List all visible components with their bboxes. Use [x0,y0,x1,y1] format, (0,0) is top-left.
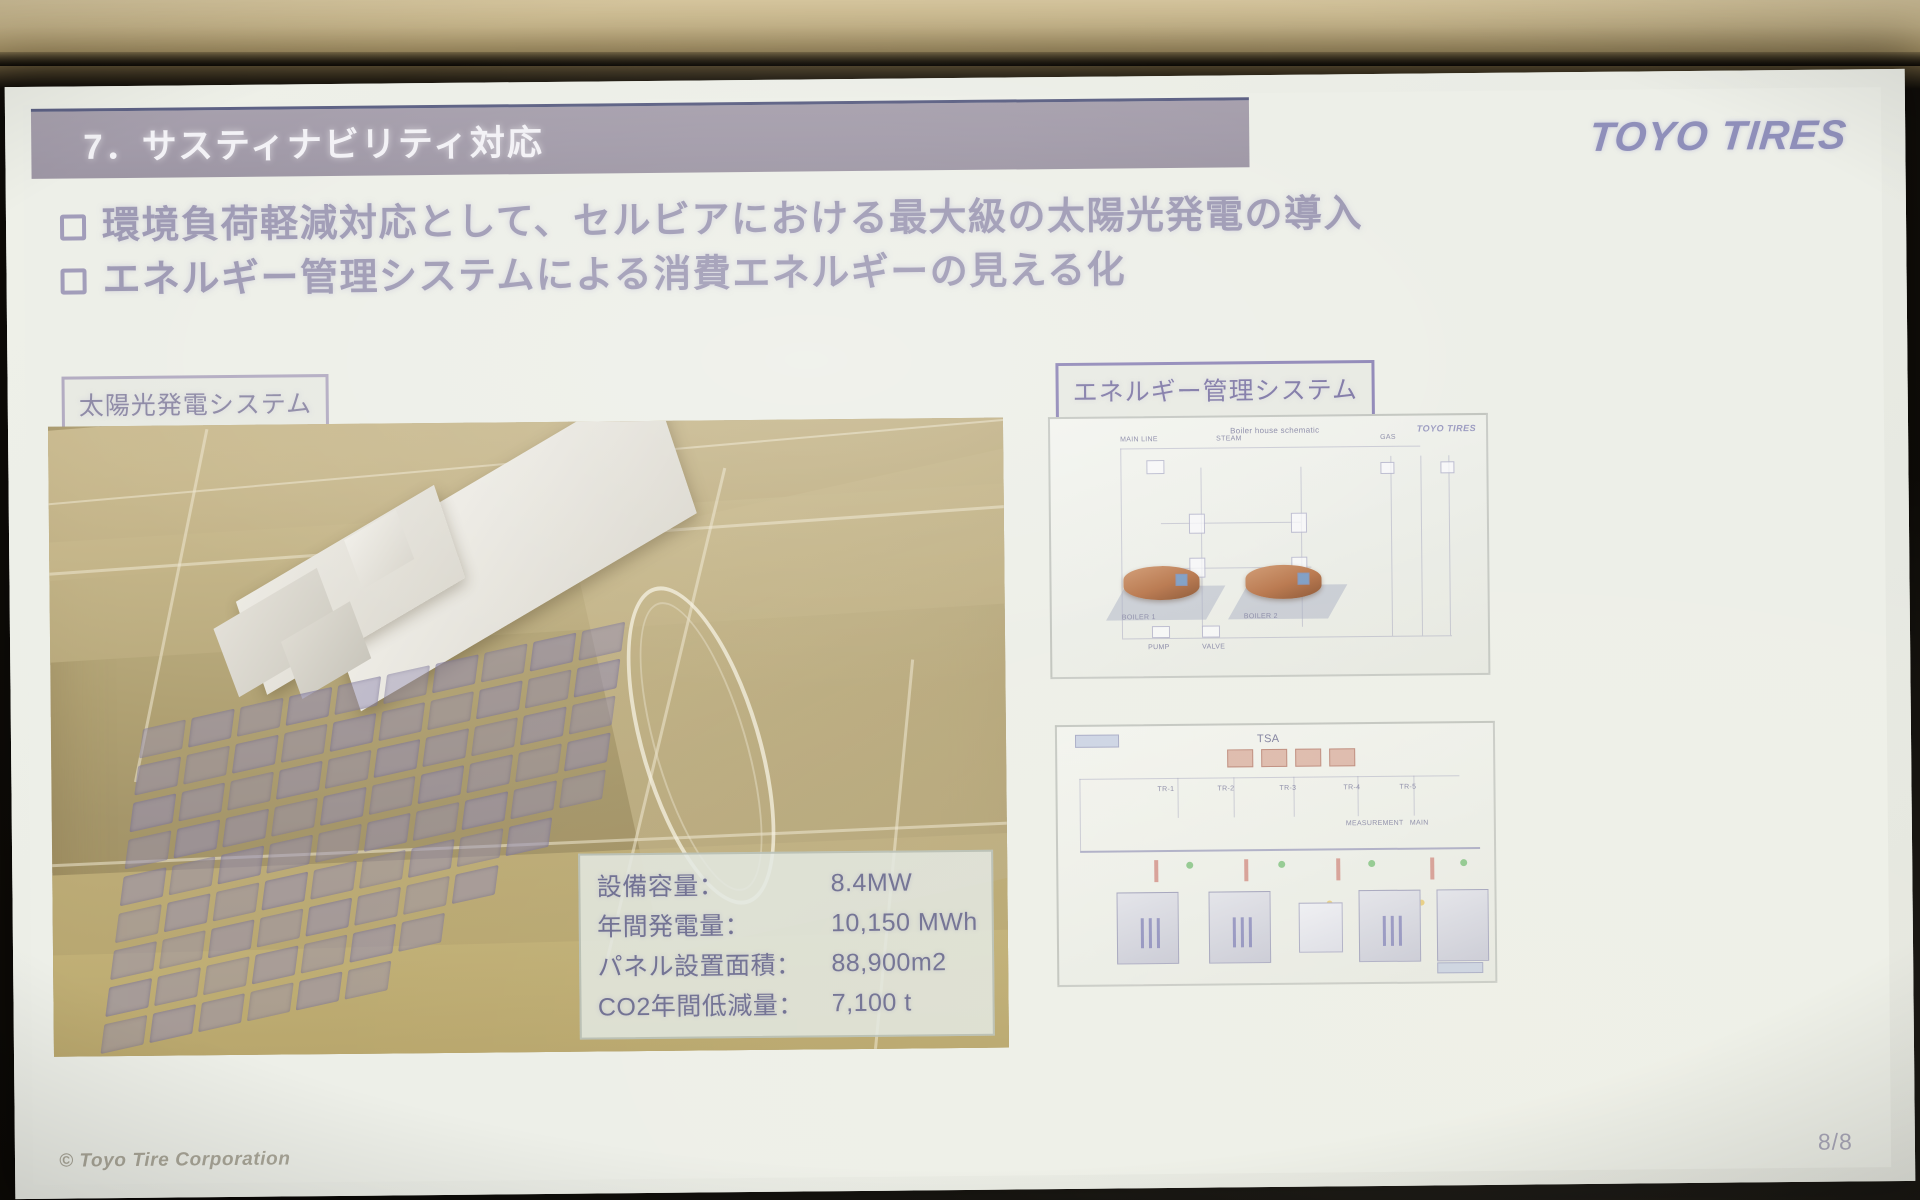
diagram-title: TSA [1257,733,1279,745]
page-number: 8/8 [1818,1128,1853,1155]
solar-panel-cell [422,728,469,767]
solar-panel-cell [257,908,304,947]
solar-panel-cell [369,776,416,815]
solar-panel-cell [159,930,206,969]
solar-panel-cell [232,735,279,774]
solar-panel-cell [349,924,396,963]
solar-panel-cell [515,743,562,782]
solar-panel-cell [476,680,523,719]
stat-label: パネル設置面積： [597,943,831,985]
solar-panel-cell [574,659,621,698]
solar-panel-cell [281,724,328,763]
solar-panel-cell [129,793,176,832]
bullet-label: エネルギー管理システムによる消費エネルギーの見える化 [102,244,1126,308]
ems-schematic-diagram-top: TOYO TIRES Boiler house schematic [1048,413,1490,679]
stat-value: 8.4MW [830,862,977,903]
solar-panel-cell [188,709,235,748]
solar-panel-cell [466,754,513,793]
ceiling-wood-strip [0,0,1920,66]
bullet-list: 環境負荷軽減対応として、セルビアにおける最大級の太陽光発電の導入 エネルギー管理… [60,186,1561,308]
solar-panel-cell [345,961,392,1000]
solar-panel-cell [222,809,269,848]
solar-panel-cell [164,893,211,932]
solar-panel-cell [237,698,284,737]
solar-panel-cell [276,761,323,800]
solar-panel-cell [154,967,201,1006]
solar-panel-cell [417,765,464,804]
solar-panel-cell [115,904,162,943]
solar-panel-cell [481,643,528,682]
solar-panel-cell [334,676,381,715]
solar-panel-cell [564,732,611,771]
ems-schematic-diagram-bottom: TSA TR-1 TR-2 TR-3 TR-4 TR-5 MEA [1055,721,1497,987]
stat-label: 年間発電量： [597,903,831,945]
solar-panel-cell [120,867,167,906]
solar-panel-cell [169,856,216,895]
table-row: CO2年間低減量： 7,100 t [598,982,979,1026]
solar-panel-cell [403,876,450,915]
solar-panel-cell [457,828,504,867]
solar-panel-cell [569,696,616,735]
solar-stats-panel: 設備容量： 8.4MW 年間発電量： 10,150 MWh パネル設置面積： 8… [578,850,994,1040]
solar-panel-cell [110,941,157,980]
solar-panel-cell [427,691,474,730]
solar-panel-cell [125,830,172,869]
solar-panel-cell [320,787,367,826]
solar-panel-cell [413,802,460,841]
checkbox-square-icon [60,214,86,240]
solar-panel-cell [461,791,508,830]
solar-panel-cell [398,913,445,952]
solar-panel-cell [325,750,372,789]
projection-screen: 7．サスティナビリティ対応 TOYO TIRES 環境負荷軽減対応として、セルビ… [5,69,1916,1199]
aerial-site-photo: 設備容量： 8.4MW 年間発電量： 10,150 MWh パネル設置面積： 8… [48,418,1009,1057]
solar-panel-cell [525,669,572,708]
table-row: パネル設置面積： 88,900m2 [597,942,978,986]
solar-panel-cell [183,746,230,785]
stat-value: 7,100 t [832,982,979,1023]
caption-energy-management-system: エネルギー管理システム [1055,360,1375,421]
solar-panel-cell [310,861,357,900]
table-row: 年間発電量： 10,150 MWh [597,902,978,946]
solar-panel-cell [559,769,606,808]
page-title: 7．サスティナビリティ対応 [83,114,544,169]
solar-panel-cell [178,782,225,821]
solar-panel-cell [354,887,401,926]
solar-panel-cell [149,1004,196,1043]
solar-panel-cell [208,919,255,958]
solar-stats-table: 設備容量： 8.4MW 年間発電量： 10,150 MWh パネル設置面積： 8… [597,862,979,1026]
copyright-notice: © Toyo Tire Corporation [59,1148,291,1172]
solar-panel-cell [452,865,499,904]
solar-panel-cell [247,982,294,1021]
stat-value: 88,900m2 [831,942,978,983]
solar-panel-cell [330,713,377,752]
solar-panel-cell [271,798,318,837]
stat-label: CO2年間低減量： [598,983,832,1025]
solar-panel-cell [505,817,552,856]
solar-panel-cell [100,1015,147,1054]
diagram-logo: TOYO TIRES [1417,423,1476,434]
solar-panel-cell [105,978,152,1017]
solar-panel-cell [261,872,308,911]
solar-panel-cell [378,702,425,741]
solar-panel-cell [510,780,557,819]
table-row: 設備容量： 8.4MW [597,862,978,906]
solar-panel-cell [217,845,264,884]
solar-panel-cell [364,813,411,852]
slide-content: 7．サスティナビリティ対応 TOYO TIRES 環境負荷軽減対応として、セルビ… [23,87,1891,1185]
solar-panel-cell [203,956,250,995]
solar-panel-cell [315,824,362,863]
solar-panel-cell [173,819,220,858]
solar-panel-cell [213,882,260,921]
solar-panel-cell [301,935,348,974]
stat-label: 設備容量： [597,863,831,905]
toyo-tires-logo: TOYO TIRES [1587,111,1849,161]
solar-panel-cell [286,687,333,726]
solar-panel-cell [408,839,455,878]
solar-panel-cell [134,756,181,795]
solar-panel-cell [520,706,567,745]
stat-value: 10,150 MWh [831,902,978,943]
solar-panel-cell [305,898,352,937]
solar-panel-cell [266,835,313,874]
solar-panel-cell [296,971,343,1010]
solar-panel-cell [530,633,577,672]
solar-panel-cell [471,717,518,756]
solar-panel-cell [359,850,406,889]
projected-slide-photo: 7．サスティナビリティ対応 TOYO TIRES 環境負荷軽減対応として、セルビ… [0,0,1920,1200]
solar-panel-cell [227,772,274,811]
solar-panel-cell [198,993,245,1032]
checkbox-square-icon [60,268,86,294]
slide-title-bar: 7．サスティナビリティ対応 [31,97,1250,179]
solar-panel-cell [373,739,420,778]
solar-panel-cell [252,945,299,984]
